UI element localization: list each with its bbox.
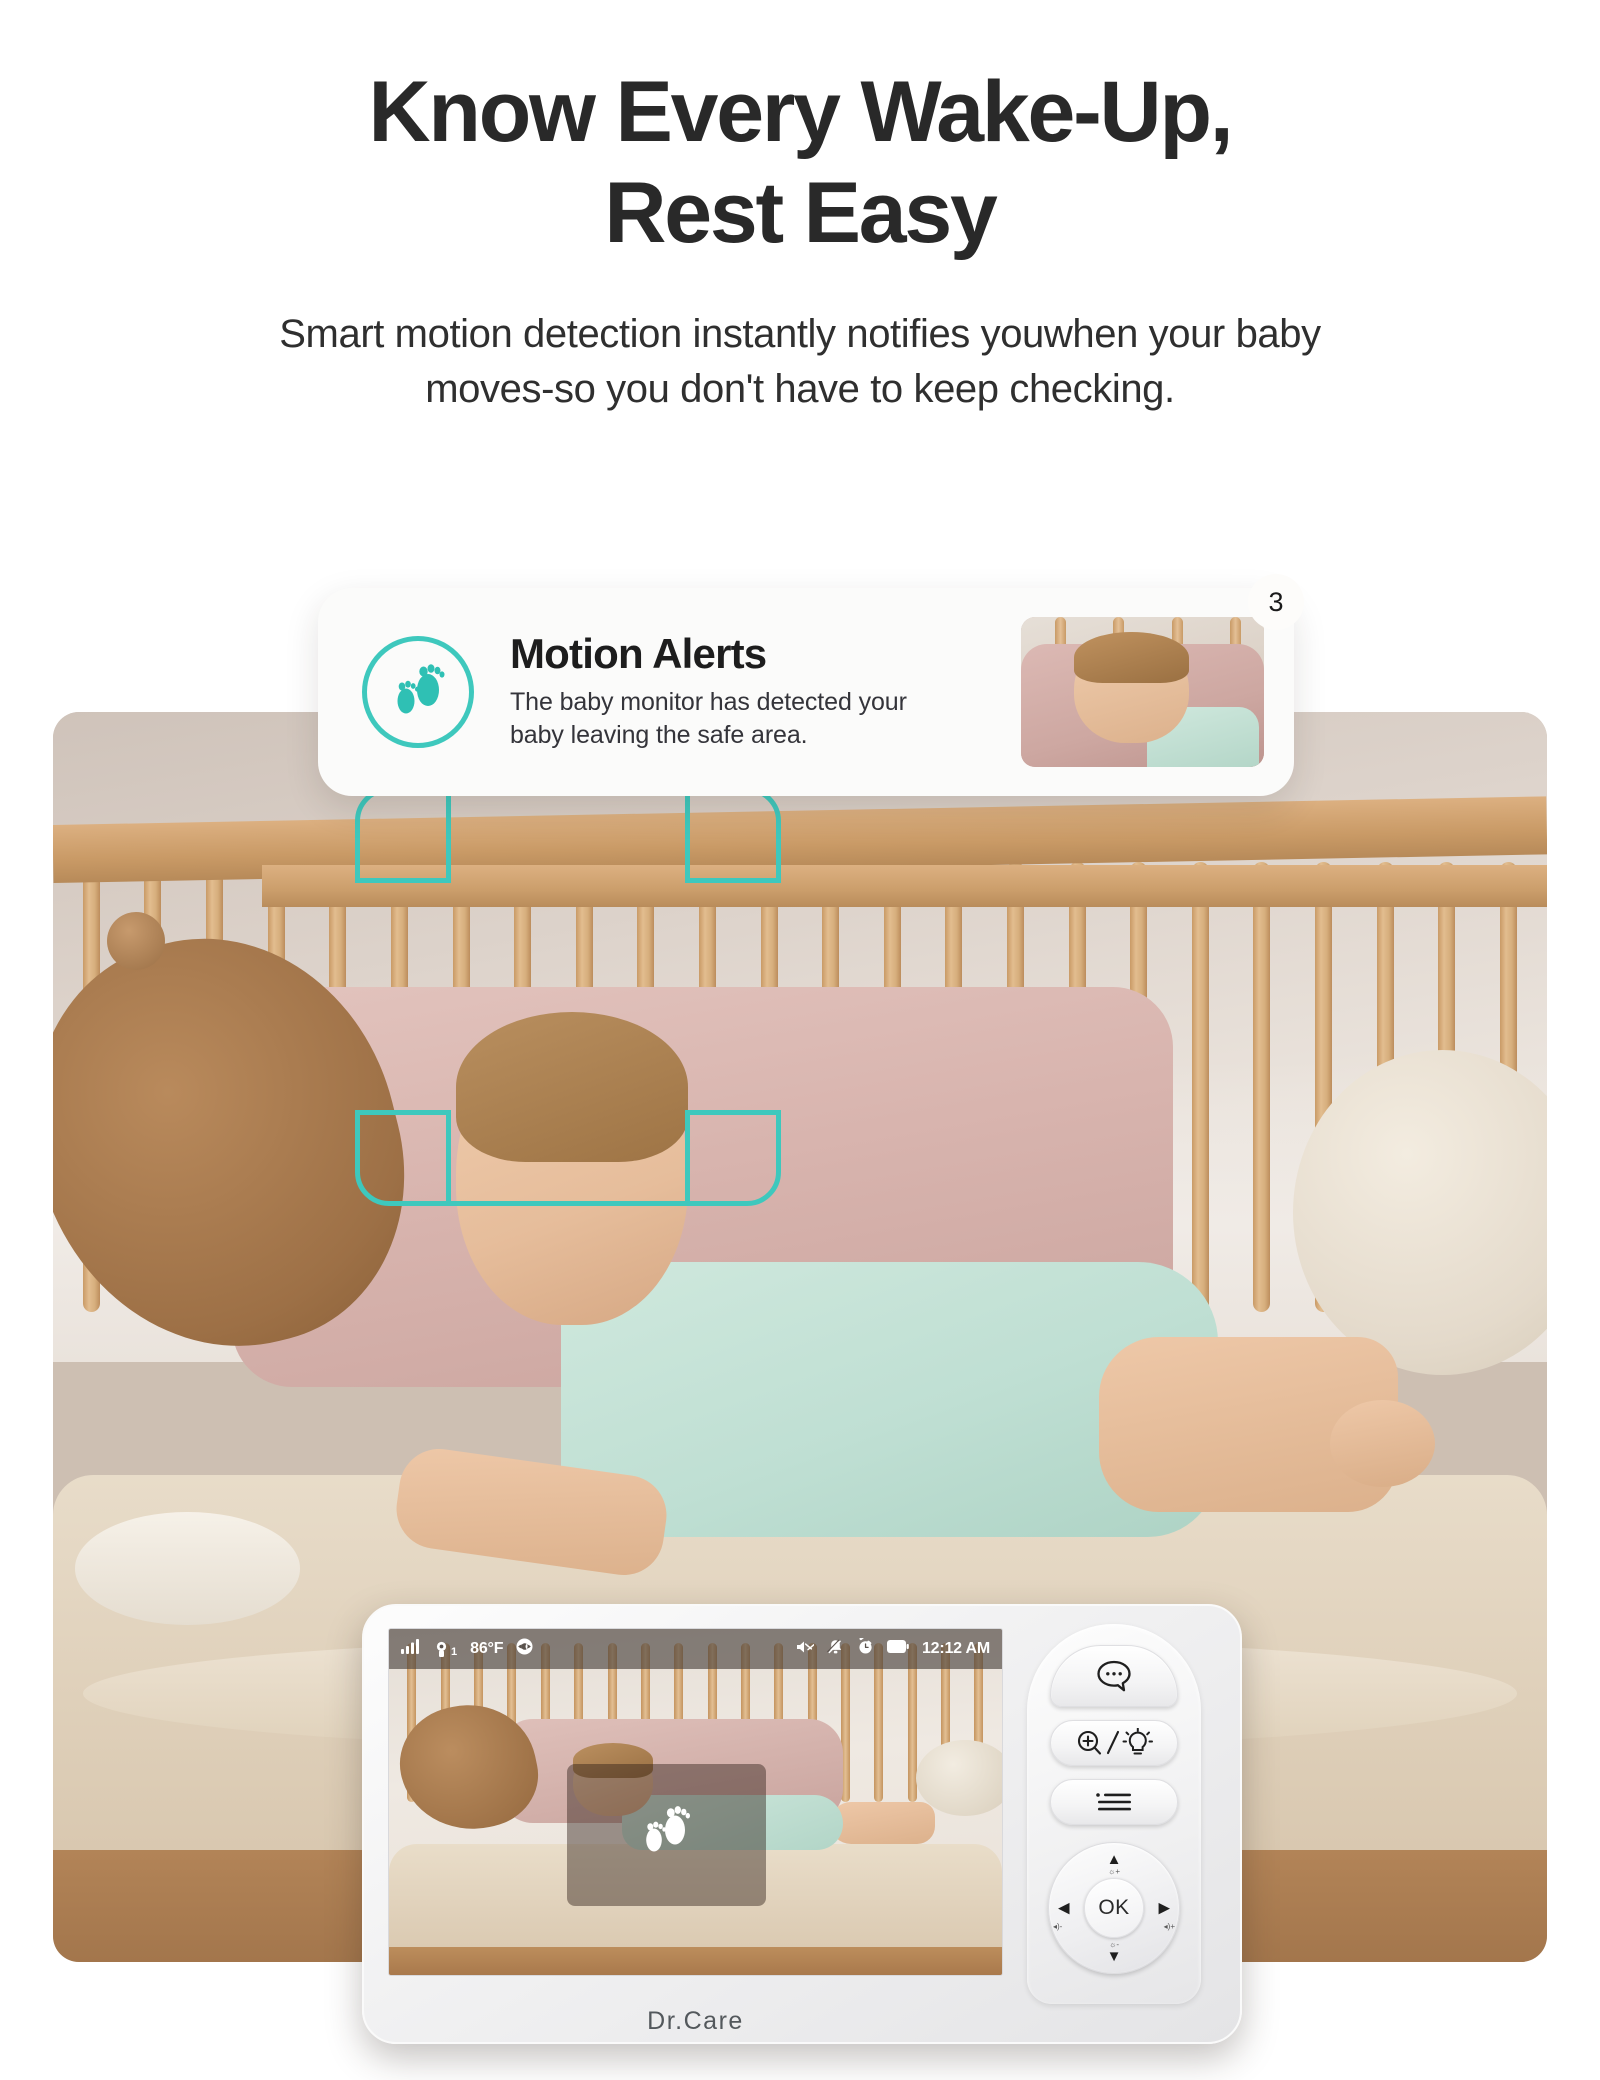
baby-footprints-icon bbox=[362, 636, 474, 748]
slash-divider bbox=[1108, 1732, 1118, 1753]
bracket-corner-bottom-right bbox=[685, 1110, 781, 1206]
dpad-up-label: ☼+ bbox=[1108, 1867, 1120, 1876]
pompom bbox=[107, 912, 165, 970]
motion-detection-bracket bbox=[355, 787, 781, 1206]
bracket-corner-top-right bbox=[685, 787, 781, 883]
page-title: Know Every Wake-Up, Rest Easy bbox=[0, 0, 1600, 265]
camera-number: 1 bbox=[451, 1646, 457, 1658]
dpad-down-label: ☼- bbox=[1109, 1940, 1119, 1949]
subtitle-line-1: Smart motion detection instantly notifie… bbox=[0, 307, 1600, 362]
page-subtitle: Smart motion detection instantly notifie… bbox=[0, 307, 1600, 417]
headline-line-2: Rest Easy bbox=[0, 163, 1600, 264]
zoom-brightness-button[interactable] bbox=[1050, 1720, 1178, 1766]
baby-footprints-icon bbox=[635, 1801, 697, 1868]
monitor-status-bar: 1 86°F bbox=[389, 1629, 1002, 1669]
dpad-up-button[interactable]: ▲ bbox=[1107, 1852, 1122, 1867]
speaker-muted-icon bbox=[796, 1639, 814, 1660]
notification-title: Motion Alerts bbox=[510, 632, 1005, 676]
notification-text-block: Motion Alerts The baby monitor has detec… bbox=[474, 632, 1021, 751]
signal-bars-icon bbox=[401, 1639, 420, 1659]
dpad-right-button[interactable]: ▶ bbox=[1158, 1901, 1170, 1916]
subtitle-line-2: moves-so you don't have to keep checking… bbox=[0, 362, 1600, 417]
monitor-control-panel: ▲ ☼+ ▼ ☼- ◀ ◂)- ▶ ◂)+ OK bbox=[1019, 1628, 1209, 2032]
notification-thumbnail[interactable] bbox=[1021, 617, 1264, 767]
headline-line-1: Know Every Wake-Up, bbox=[0, 62, 1600, 163]
bracket-edge-bottom bbox=[445, 1201, 691, 1206]
notification-desc-line-2: baby leaving the safe area. bbox=[510, 719, 1005, 752]
notification-badge-count: 3 bbox=[1248, 574, 1304, 630]
bracket-corner-bottom-left bbox=[355, 1110, 451, 1206]
temperature-reading: 86°F bbox=[470, 1640, 503, 1658]
motion-alert-notification-card[interactable]: Motion Alerts The baby monitor has detec… bbox=[318, 588, 1294, 796]
monitor-clock: 12:12 AM bbox=[922, 1640, 990, 1658]
brand-logo: Dr.Care bbox=[388, 2007, 1003, 2036]
alert-muted-icon bbox=[827, 1639, 844, 1660]
night-vision-eye-icon bbox=[516, 1638, 533, 1660]
camera-icon: 1 bbox=[433, 1641, 457, 1658]
dpad-down-button[interactable]: ▼ bbox=[1107, 1949, 1122, 1964]
baby-foot bbox=[1330, 1400, 1435, 1488]
dpad-left-label: ◂)- bbox=[1053, 1922, 1062, 1931]
alarm-clock-icon bbox=[857, 1638, 874, 1660]
motion-detection-overlay bbox=[567, 1764, 766, 1906]
brightness-bulb-icon bbox=[1124, 1729, 1153, 1754]
zoom-in-icon bbox=[1079, 1732, 1100, 1754]
directional-pad[interactable]: ▲ ☼+ ▼ ☼- ◀ ◂)- ▶ ◂)+ OK bbox=[1048, 1842, 1180, 1974]
dpad-right-label: ◂)+ bbox=[1164, 1922, 1175, 1931]
battery-icon bbox=[887, 1640, 909, 1658]
notification-description: The baby monitor has detected your baby … bbox=[510, 686, 1005, 752]
baby-monitor-device: 1 86°F bbox=[362, 1604, 1242, 2044]
menu-list-icon bbox=[1093, 1789, 1135, 1815]
speech-bubble-icon bbox=[1096, 1659, 1132, 1693]
bracket-corner-top-left bbox=[355, 787, 451, 883]
white-cushion bbox=[75, 1512, 299, 1625]
menu-button[interactable] bbox=[1050, 1779, 1178, 1825]
monitor-screen[interactable]: 1 86°F bbox=[388, 1628, 1003, 1976]
notification-desc-line-1: The baby monitor has detected your bbox=[510, 686, 1005, 719]
dpad-left-button[interactable]: ◀ bbox=[1058, 1901, 1070, 1916]
ok-button[interactable]: OK bbox=[1084, 1878, 1144, 1938]
